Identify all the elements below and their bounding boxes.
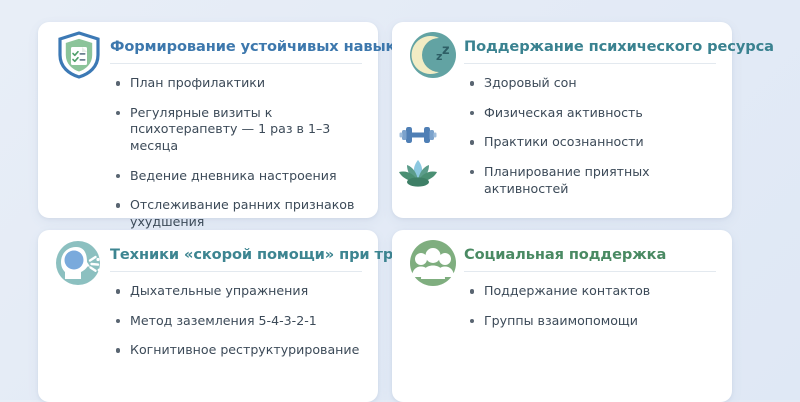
list-item: Планирование приятных активностей [470, 164, 716, 197]
list-item: Поддержание контактов [470, 283, 716, 300]
list-item: Практики осознанности [470, 134, 716, 151]
card-body: Поддержание психического ресурса Здоровы… [392, 22, 732, 218]
list-item: Когнитивное реструктурирование [116, 342, 362, 359]
card-mental-resource[interactable]: z z [392, 22, 732, 218]
card-emergency-techniques[interactable]: Техники «скорой помощи» при тревоге Дыха… [38, 230, 378, 402]
list-item: Отслеживание ранних признаков ухудшения [116, 197, 362, 230]
list-item: Дыхательные упражнения [116, 283, 362, 300]
bullet-list: Здоровый сон Физическая активность Практ… [470, 75, 716, 197]
list-item: Группы взаимопомощи [470, 313, 716, 330]
card-title: Поддержание психического ресурса [464, 38, 716, 64]
infographic-root: Формирование устойчивых навыков План про… [0, 0, 800, 400]
list-item: Физическая активность [470, 105, 716, 122]
list-item: Ведение дневника настроения [116, 168, 362, 185]
card-body: Формирование устойчивых навыков План про… [38, 22, 378, 218]
card-title: Формирование устойчивых навыков [110, 38, 362, 64]
bullet-list: Поддержание контактов Группы взаимопомощ… [470, 283, 716, 329]
list-item: Регулярные визиты к психотерапевту — 1 р… [116, 105, 362, 155]
card-title: Техники «скорой помощи» при тревоге [110, 246, 362, 272]
card-body: Техники «скорой помощи» при тревоге Дыха… [38, 230, 378, 402]
card-title: Социальная поддержка [464, 246, 716, 272]
list-item: План профилактики [116, 75, 362, 92]
bullet-list: План профилактики Регулярные визиты к пс… [116, 75, 362, 230]
card-grid: Формирование устойчивых навыков План про… [0, 0, 800, 400]
bullet-list: Дыхательные упражнения Метод заземления … [116, 283, 362, 359]
card-social-support[interactable]: Социальная поддержка Поддержание контакт… [392, 230, 732, 402]
list-item: Метод заземления 5-4-3-2-1 [116, 313, 362, 330]
list-item: Здоровый сон [470, 75, 716, 92]
card-sustainable-skills[interactable]: Формирование устойчивых навыков План про… [38, 22, 378, 218]
card-body: Социальная поддержка Поддержание контакт… [392, 230, 732, 402]
